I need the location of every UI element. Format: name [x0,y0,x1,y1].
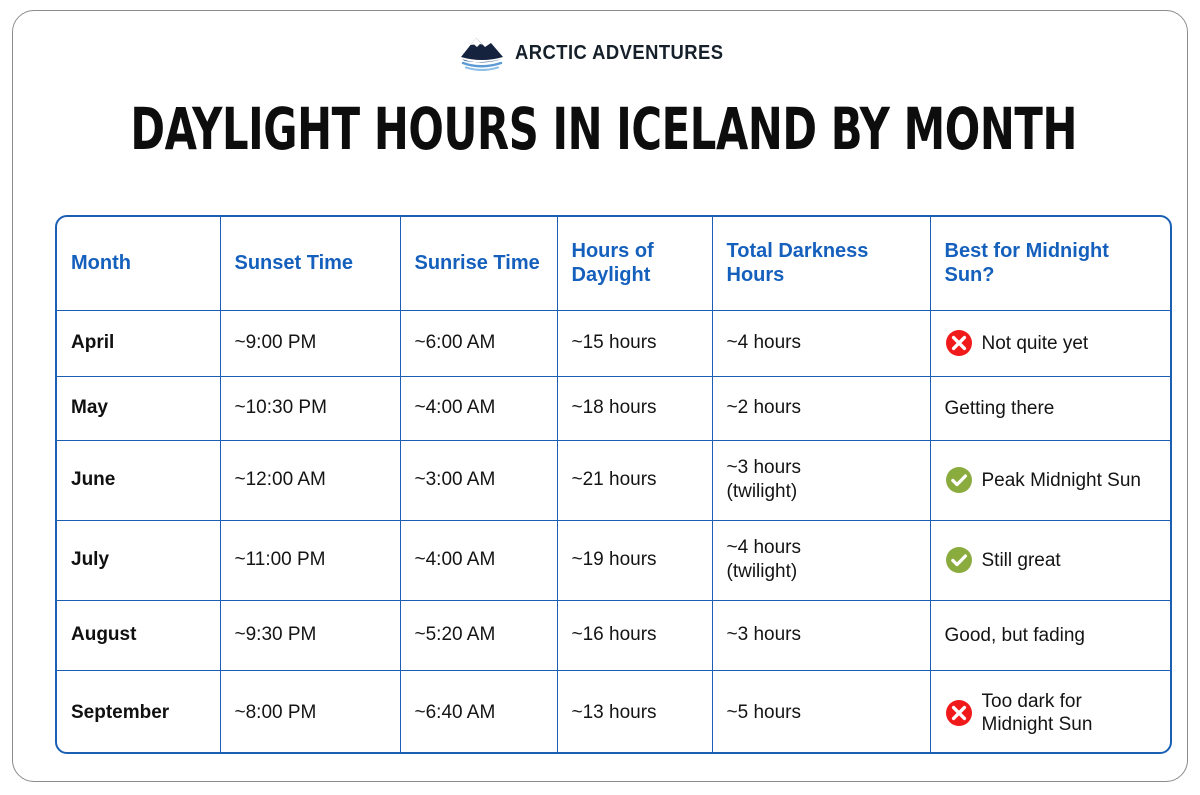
cell-darkness: ~4 hours (twilight) [712,520,930,600]
column-header-sunset: Sunset Time [220,217,400,310]
cell-daylight: ~21 hours [557,440,712,520]
verdict-label: Good, but fading [945,624,1086,647]
cell-month: August [57,600,220,670]
check-circle-icon [945,546,973,574]
infographic-card: ARCTIC ADVENTURES DAYLIGHT HOURS IN ICEL… [12,10,1188,782]
cell-sunset: ~9:30 PM [220,600,400,670]
verdict-group: Too dark for Midnight Sun [945,690,1157,736]
cell-darkness: ~3 hours (twilight) [712,440,930,520]
cross-circle-icon [945,329,973,357]
cell-verdict: Still great [930,520,1170,600]
table-row: June ~12:00 AM ~3:00 AM ~21 hours ~3 hou… [57,440,1170,520]
cell-darkness: ~2 hours [712,376,930,440]
cell-daylight: ~15 hours [557,310,712,376]
cell-daylight: ~19 hours [557,520,712,600]
check-circle-icon [945,466,973,494]
brand-name: ARCTIC ADVENTURES [515,42,724,65]
verdict-label: Still great [982,549,1061,572]
mountain-wave-logo-icon [459,35,505,71]
cell-darkness: ~5 hours [712,670,930,754]
table-row: August ~9:30 PM ~5:20 AM ~16 hours ~3 ho… [57,600,1170,670]
verdict-label: Not quite yet [982,332,1089,355]
cell-sunset: ~12:00 AM [220,440,400,520]
table-body: April ~9:00 PM ~6:00 AM ~15 hours ~4 hou… [57,310,1170,754]
cell-sunset: ~10:30 PM [220,376,400,440]
table-header-row: Month Sunset Time Sunrise Time Hours of … [57,217,1170,310]
cell-sunrise: ~6:40 AM [400,670,557,754]
cell-daylight: ~13 hours [557,670,712,754]
verdict-group: Good, but fading [945,624,1157,647]
cell-sunset: ~9:00 PM [220,310,400,376]
verdict-group: Peak Midnight Sun [945,466,1157,494]
cell-daylight: ~16 hours [557,600,712,670]
cell-sunrise: ~3:00 AM [400,440,557,520]
brand-lockup: ARCTIC ADVENTURES [13,31,1187,75]
column-header-month: Month [57,217,220,310]
table-row: April ~9:00 PM ~6:00 AM ~15 hours ~4 hou… [57,310,1170,376]
cell-verdict: Peak Midnight Sun [930,440,1170,520]
cross-circle-icon [945,699,973,727]
cell-month: July [57,520,220,600]
table-row: September ~8:00 PM ~6:40 AM ~13 hours ~5… [57,670,1170,754]
cell-verdict: Too dark for Midnight Sun [930,670,1170,754]
cell-verdict: Not quite yet [930,310,1170,376]
cell-sunrise: ~4:00 AM [400,520,557,600]
cell-daylight: ~18 hours [557,376,712,440]
verdict-group: Getting there [945,397,1157,420]
cell-darkness: ~3 hours [712,600,930,670]
column-header-darkness: Total Darkness Hours [712,217,930,310]
cell-month: September [57,670,220,754]
table-row: May ~10:30 PM ~4:00 AM ~18 hours ~2 hour… [57,376,1170,440]
verdict-group: Not quite yet [945,329,1157,357]
cell-sunrise: ~6:00 AM [400,310,557,376]
daylight-table-container: Month Sunset Time Sunrise Time Hours of … [55,215,1172,754]
cell-month: April [57,310,220,376]
cell-month: June [57,440,220,520]
cell-sunset: ~8:00 PM [220,670,400,754]
verdict-label: Peak Midnight Sun [982,469,1142,492]
page-title: DAYLIGHT HOURS IN ICELAND BY MONTH [130,97,1069,161]
cell-verdict: Good, but fading [930,600,1170,670]
verdict-group: Still great [945,546,1157,574]
verdict-label: Too dark for Midnight Sun [982,690,1147,736]
cell-month: May [57,376,220,440]
daylight-table: Month Sunset Time Sunrise Time Hours of … [57,217,1170,754]
cell-verdict: Getting there [930,376,1170,440]
cell-darkness: ~4 hours [712,310,930,376]
verdict-label: Getting there [945,397,1055,420]
column-header-midnight-sun: Best for Midnight Sun? [930,217,1170,310]
column-header-sunrise: Sunrise Time [400,217,557,310]
cell-sunset: ~11:00 PM [220,520,400,600]
cell-sunrise: ~4:00 AM [400,376,557,440]
column-header-daylight: Hours of Daylight [557,217,712,310]
cell-sunrise: ~5:20 AM [400,600,557,670]
table-header: Month Sunset Time Sunrise Time Hours of … [57,217,1170,310]
table-row: July ~11:00 PM ~4:00 AM ~19 hours ~4 hou… [57,520,1170,600]
